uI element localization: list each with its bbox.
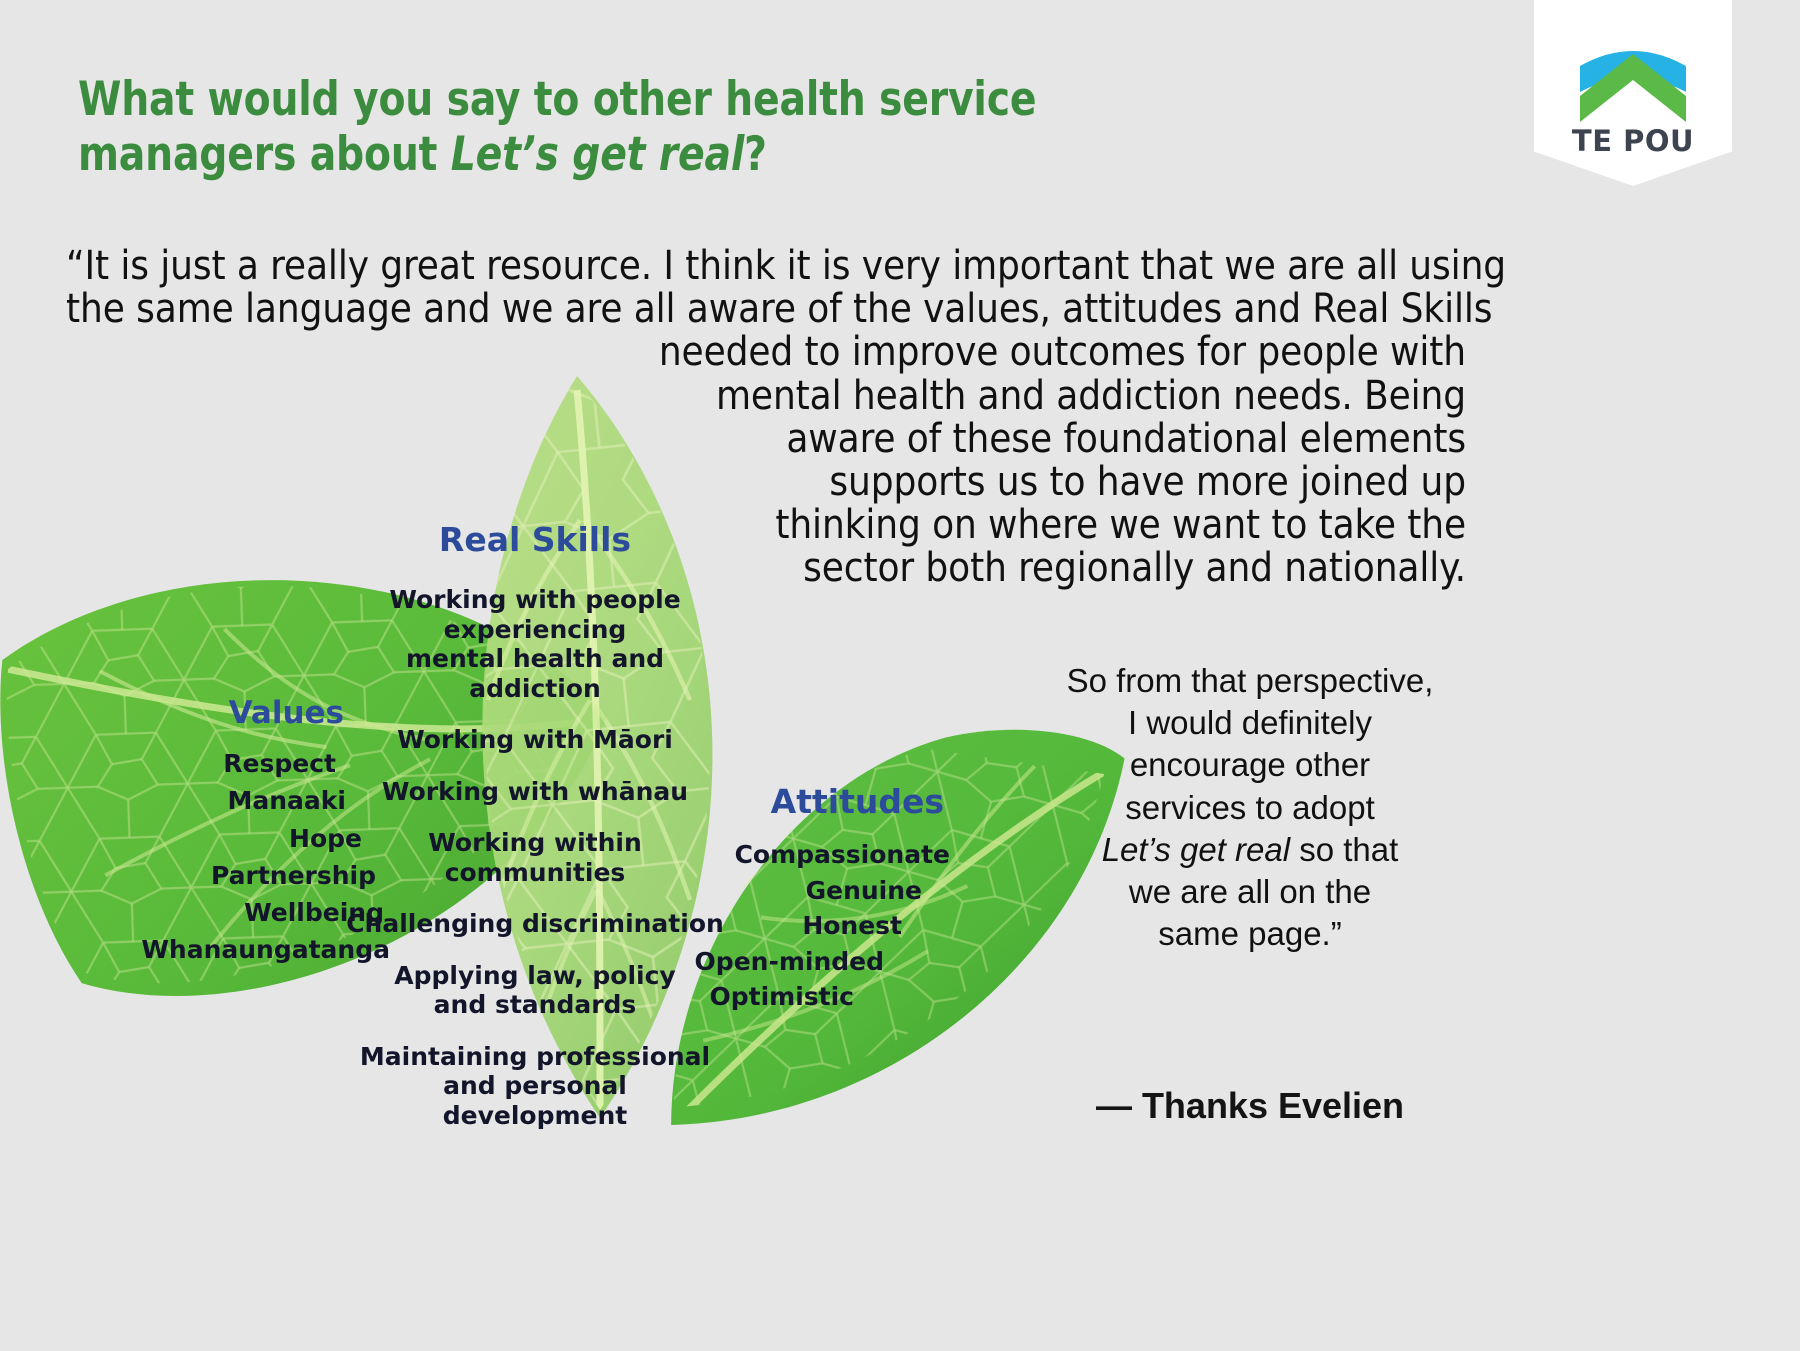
leaf-attitudes-title: Attitudes <box>650 782 950 821</box>
page-title-emphasis: Let’s get real <box>451 127 744 182</box>
quote-line: “It is just a really great resource. I t… <box>66 245 1466 288</box>
page-title: What would you say to other health servi… <box>78 72 1129 183</box>
quote-line: the same language and we are all aware o… <box>66 288 1466 331</box>
quote-line: supports us to have more joined up <box>66 461 1466 504</box>
leaf-attitudes-item: Optimistic <box>650 979 950 1015</box>
te-pou-logo: TE POU <box>1534 0 1732 186</box>
leaf-attitudes-text: Attitudes Compassionate Genuine Honest O… <box>650 782 950 1015</box>
quote-tail-line: So from that perspective, <box>1020 660 1480 702</box>
leaf-real-skills-item: Maintaining professional and personal de… <box>345 1042 725 1131</box>
te-pou-wordmark: TE POU <box>1534 124 1732 158</box>
leaf-attitudes-item: Compassionate <box>650 837 950 873</box>
quote-line: aware of these foundational elements <box>66 418 1466 461</box>
quote-attribution: — Thanks Evelien <box>1020 1085 1480 1127</box>
quote-line: thinking on where we want to take the <box>66 504 1466 547</box>
leaf-real-skills-item: Working with people experiencing mental … <box>345 585 725 703</box>
leaf-attitudes-item: Honest <box>650 908 950 944</box>
leaf-real-skills-item: Working with Māori <box>345 725 725 755</box>
leaf-attitudes-item: Genuine <box>650 873 950 909</box>
quote-tail-line-italic-row: Let’s get real so that <box>1020 829 1480 871</box>
quote-tail: So from that perspective, I would defini… <box>1020 660 1480 956</box>
quote-tail-line: services to adopt <box>1020 787 1480 829</box>
page-title-line1: What would you say to other health servi… <box>78 72 1036 127</box>
quote-tail-line: we are all on the <box>1020 871 1480 913</box>
quote-line: mental health and addiction needs. Being <box>66 375 1466 418</box>
quote-tail-line: same page.” <box>1020 913 1480 955</box>
quote-tail-line: I would definitely <box>1020 702 1480 744</box>
quote-tail-emphasis: Let’s get real <box>1102 831 1290 868</box>
page-title-line2-after: ? <box>744 127 767 182</box>
quote-tail-line: encourage other <box>1020 744 1480 786</box>
page-title-line2-before: managers about <box>78 127 451 182</box>
te-pou-chevron-icon <box>1576 30 1690 122</box>
leaf-attitudes-item: Open-minded <box>650 944 950 980</box>
quote-line: sector both regionally and nationally. <box>66 547 1466 590</box>
quote-main: “It is just a really great resource. I t… <box>66 245 1466 591</box>
quote-tail-after-emphasis: so that <box>1290 831 1398 868</box>
quote-line: needed to improve outcomes for people wi… <box>66 331 1466 374</box>
